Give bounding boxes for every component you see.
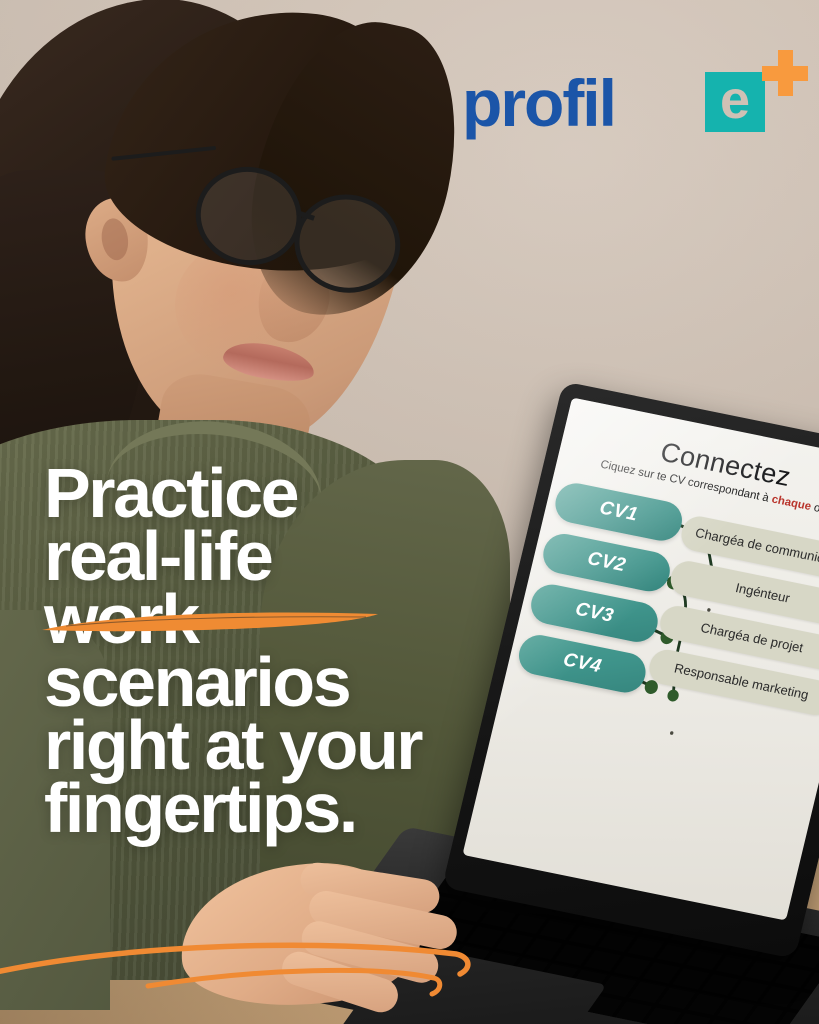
headline-line-1: Practice <box>44 462 564 525</box>
plus-icon <box>762 50 808 96</box>
page-title: Practice real-life work scenarios right … <box>44 462 564 840</box>
logo-e-letter: e <box>720 73 750 127</box>
eyeglass-temple <box>111 146 216 161</box>
headline-line-2: real-life <box>44 525 564 588</box>
promo-poster: Connectez Ciquez sur te CV correspondant… <box>0 0 819 1024</box>
eyeglass-lens-left <box>188 159 309 274</box>
eyeglass-lens-right <box>287 186 408 301</box>
hand-on-keyboard <box>180 855 510 1024</box>
headline-line-6: fingertips. <box>44 777 564 840</box>
brand-logo[interactable]: profil e <box>462 56 782 146</box>
headline-line-4: scenarios <box>44 651 564 714</box>
headline-line-5: right at your <box>44 714 564 777</box>
logo-e-box: e <box>705 72 765 132</box>
headline-line-3: work <box>44 588 564 651</box>
logo-wordmark: profil <box>462 70 615 136</box>
plus-icon-bar-vertical <box>778 50 793 96</box>
instruction-part-2: offre. <box>809 501 819 518</box>
